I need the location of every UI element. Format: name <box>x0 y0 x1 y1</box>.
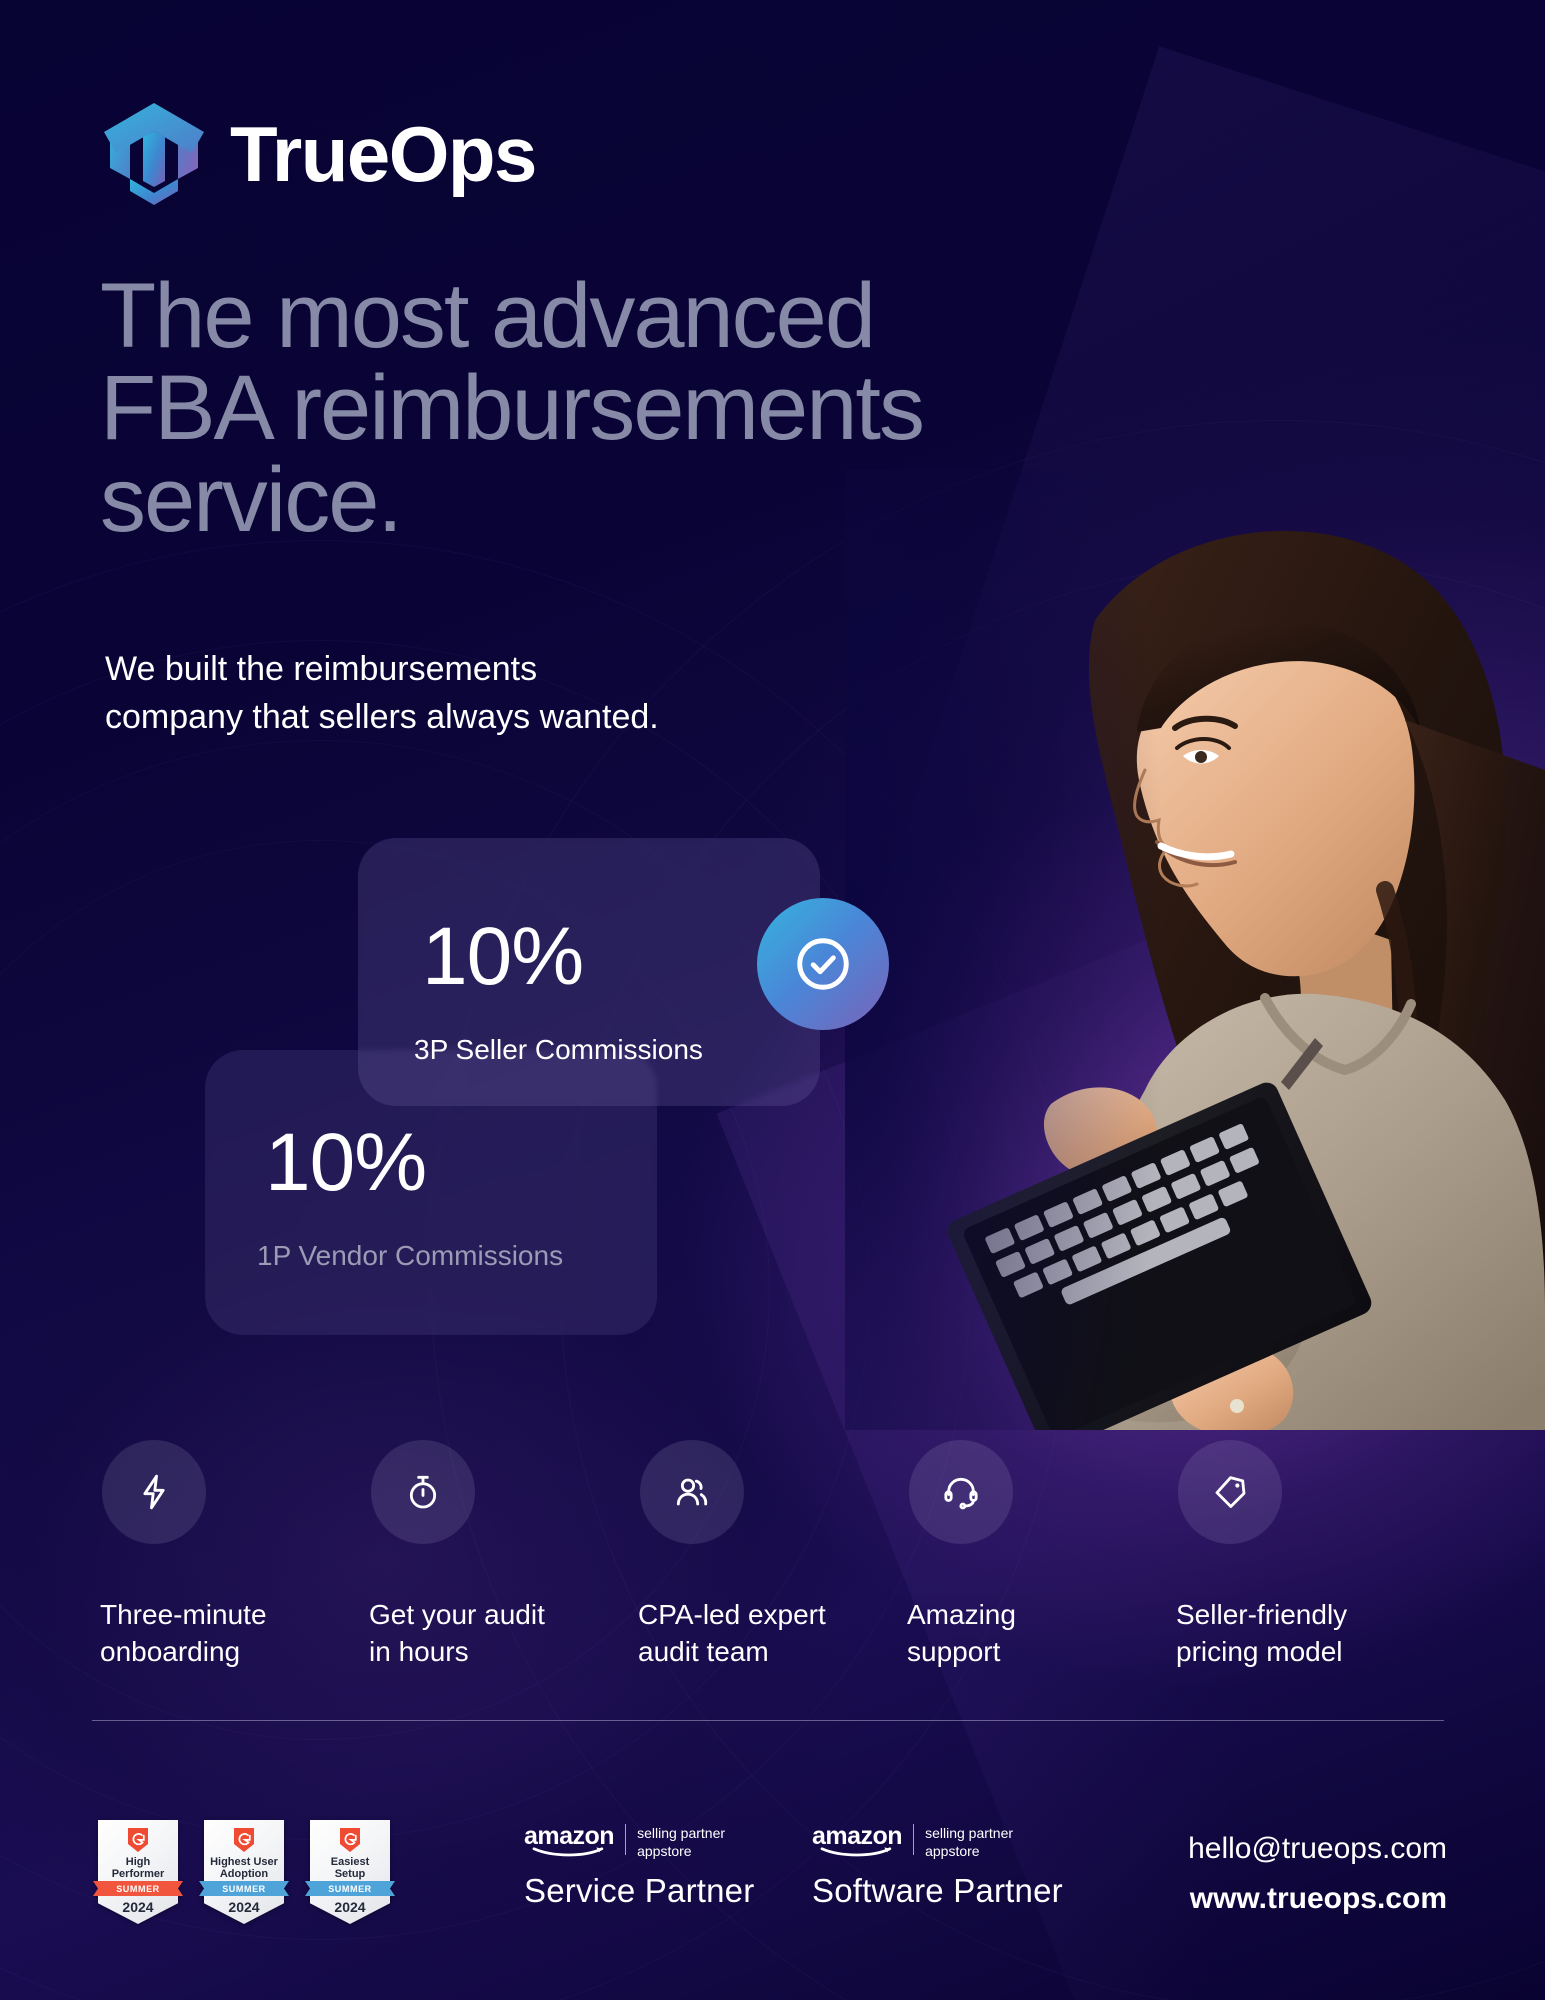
stat-label: 1P Vendor Commissions <box>257 1242 563 1270</box>
stat-value: 10% <box>422 916 583 998</box>
brand-name: TrueOps <box>230 115 536 193</box>
amazon-smile-icon <box>531 1846 607 1857</box>
feature-label: CPA-led expert audit team <box>638 1597 826 1671</box>
amazon-divider <box>625 1824 626 1855</box>
amazon-software-partner-block: amazon selling partner appstore Software… <box>812 1824 1063 1910</box>
amazon-program-line: selling partner <box>637 1825 725 1843</box>
g2-badge-row: High Performer SUMMER 2024 Highest User … <box>98 1820 390 1924</box>
background-facet <box>881 46 1545 1094</box>
headline-line-2: FBA reimbursements <box>100 362 1220 454</box>
g2-shield-icon <box>338 1827 362 1853</box>
amazon-program-line: appstore <box>925 1843 1013 1861</box>
feature-label-line: Three-minute <box>100 1597 267 1634</box>
g2-badge-season: SUMMER <box>93 1881 183 1896</box>
amazon-wordmark: amazon <box>524 1824 614 1858</box>
feature-label-line: support <box>907 1634 1016 1671</box>
g2-title-line: Highest User <box>210 1856 278 1868</box>
g2-title-line: Adoption <box>220 1868 268 1880</box>
page-title: The most advanced FBA reimbursements ser… <box>100 270 1220 546</box>
footer: High Performer SUMMER 2024 Highest User … <box>0 1810 1545 1960</box>
amazon-smile-icon <box>819 1846 895 1857</box>
feature-item-onboarding: Three-minute onboarding <box>100 1440 369 1671</box>
g2-badge-season: SUMMER <box>305 1881 395 1896</box>
g2-badge-title: Highest User Adoption <box>207 1856 281 1881</box>
hexagon-arrow-up-icon <box>100 95 208 213</box>
contact-email[interactable]: hello@trueops.com <box>1188 1830 1447 1868</box>
feature-label-line: onboarding <box>100 1634 267 1671</box>
background-arc <box>560 560 1545 2000</box>
amazon-lockup: amazon selling partner appstore <box>812 1824 1063 1858</box>
feature-item-support: Amazing support <box>907 1440 1176 1671</box>
g2-badge-title: High Performer <box>101 1856 175 1881</box>
feature-label: Amazing support <box>907 1597 1016 1671</box>
g2-badge-highest-user-adoption: Highest User Adoption SUMMER 2024 <box>204 1820 284 1924</box>
amazon-program-line: appstore <box>637 1843 725 1861</box>
feature-label: Seller-friendly pricing model <box>1176 1597 1347 1671</box>
g2-badge-high-performer: High Performer SUMMER 2024 <box>98 1820 178 1924</box>
g2-shield-icon <box>232 1827 256 1853</box>
g2-badge-year: 2024 <box>98 1899 178 1915</box>
feature-item-pricing: Seller-friendly pricing model <box>1176 1440 1445 1671</box>
amazon-service-partner-block: amazon selling partner appstore Service … <box>524 1824 754 1910</box>
amazon-program-label: selling partner appstore <box>925 1824 1013 1860</box>
footer-divider <box>92 1720 1444 1721</box>
stat-card-3p: 10% 3P Seller Commissions <box>358 838 820 1106</box>
amazon-divider <box>913 1824 914 1855</box>
feature-label-line: in hours <box>369 1634 545 1671</box>
feature-list: Three-minute onboarding Get your audit i… <box>100 1440 1445 1671</box>
contact-website[interactable]: www.trueops.com <box>1188 1880 1447 1918</box>
feature-icon-wrap <box>909 1440 1013 1544</box>
stat-value: 10% <box>265 1122 426 1204</box>
headline-line-3: service. <box>100 454 1220 546</box>
amazon-program-line: selling partner <box>925 1825 1013 1843</box>
headset-icon <box>941 1472 981 1512</box>
feature-label-line: pricing model <box>1176 1634 1347 1671</box>
check-circle-badge <box>757 898 889 1030</box>
stat-label: 3P Seller Commissions <box>414 1036 703 1064</box>
amazon-partner-title: Service Partner <box>524 1872 754 1910</box>
amazon-program-label: selling partner appstore <box>637 1824 725 1860</box>
g2-title-line: Setup <box>335 1868 366 1880</box>
g2-badge-year: 2024 <box>310 1899 390 1915</box>
feature-item-audit-speed: Get your audit in hours <box>369 1440 638 1671</box>
g2-title-line: High <box>126 1856 150 1868</box>
headline-line-1: The most advanced <box>100 270 1220 362</box>
feature-icon-wrap <box>640 1440 744 1544</box>
feature-icon-wrap <box>371 1440 475 1544</box>
subheadline-line-2: company that sellers always wanted. <box>105 693 805 741</box>
feature-label-line: Seller-friendly <box>1176 1597 1347 1634</box>
subheadline-line-1: We built the reimbursements <box>105 645 805 693</box>
amazon-lockup: amazon selling partner appstore <box>524 1824 754 1858</box>
stopwatch-icon <box>403 1472 443 1512</box>
g2-badge-season: SUMMER <box>199 1881 289 1896</box>
feature-label-line: Amazing <box>907 1597 1016 1634</box>
amazon-wordmark: amazon <box>812 1824 902 1858</box>
brand-logo[interactable]: TrueOps <box>100 95 536 213</box>
subheadline: We built the reimbursements company that… <box>105 645 805 742</box>
feature-icon-wrap <box>1178 1440 1282 1544</box>
feature-label: Get your audit in hours <box>369 1597 545 1671</box>
feature-label-line: Get your audit <box>369 1597 545 1634</box>
g2-badge-year: 2024 <box>204 1899 284 1915</box>
poster-root: TrueOps The most advanced FBA reimbursem… <box>0 0 1545 2000</box>
check-circle-icon <box>792 933 854 995</box>
lightning-bolt-icon <box>134 1472 174 1512</box>
feature-label-line: CPA-led expert <box>638 1597 826 1634</box>
g2-badge-easiest-setup: Easiest Setup SUMMER 2024 <box>310 1820 390 1924</box>
feature-label-line: audit team <box>638 1634 826 1671</box>
feature-label: Three-minute onboarding <box>100 1597 267 1671</box>
g2-shield-icon <box>126 1827 150 1853</box>
contact-block: hello@trueops.com www.trueops.com <box>1188 1830 1447 1917</box>
g2-title-line: Performer <box>112 1868 165 1880</box>
feature-item-cpa-team: CPA-led expert audit team <box>638 1440 907 1671</box>
g2-badge-title: Easiest Setup <box>313 1856 387 1881</box>
feature-icon-wrap <box>102 1440 206 1544</box>
users-icon <box>672 1472 712 1512</box>
hero-photo <box>845 470 1545 1430</box>
g2-title-line: Easiest <box>331 1856 370 1868</box>
price-tag-icon <box>1210 1472 1250 1512</box>
amazon-partner-title: Software Partner <box>812 1872 1063 1910</box>
